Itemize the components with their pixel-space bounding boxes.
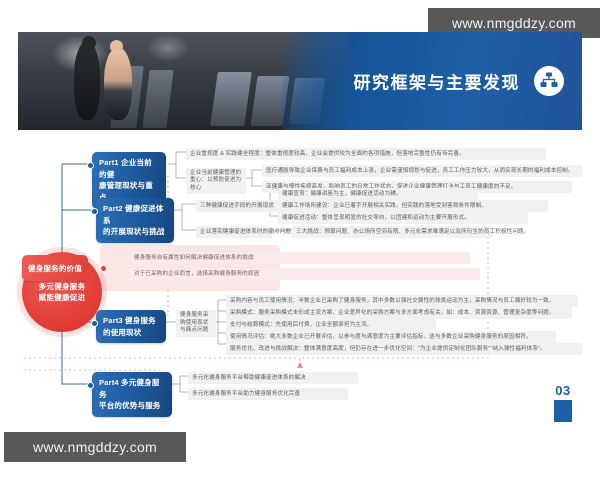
header-banner: 研究框架与主要发现: [18, 32, 582, 130]
part3-child-row: 健身服务采购使用现状与痛点问题: [176, 310, 216, 337]
value-child-row: 健身服务自有属性如何解决健康促进体系的挑战: [130, 252, 470, 264]
runner-head: [110, 40, 123, 53]
part3-grandchild-row: 支付与结算模式：先使用后付费，企业全额承担为主流。: [226, 319, 436, 331]
part-node-4[interactable]: Part4 多元健身服务 平台的优势与服务: [92, 372, 172, 417]
part4-child-row: 多元化健身服务平台助力健身服务优化完善: [188, 388, 348, 400]
value-child-row: 对于已采购的企业而言，选择采购健身服务的原因: [130, 268, 480, 280]
part-node-dot: [91, 208, 98, 215]
runner-figure: [104, 48, 132, 120]
part-node-dot: [87, 162, 94, 169]
part-node-3[interactable]: Part3 健身服务 的使用现状: [96, 310, 166, 343]
page-number: 03: [550, 383, 576, 422]
center-node-line2: 赋能健康促进: [39, 292, 86, 303]
part1-child-row: 企业重视度 & 实践健全程度：整体重视度较高，企业会提供较为全面的各项措施，但落…: [186, 148, 546, 160]
treadmill-decor: [210, 72, 252, 126]
part-title-line1: Part2 健康促进体系: [103, 203, 167, 226]
slide-page: www.nmgddzy.com 研究框架与主要发现: [0, 0, 600, 480]
runner-figure: [74, 42, 100, 120]
part2-grandchild-row: 健康工作场所建设：企业已着手开展相关实践，但实践的落地受到客观条件限制。: [278, 200, 548, 212]
part-title-line2: 平台的优势与服务: [99, 400, 165, 412]
part4-child-row: 多元化健身服务平台帮助健康促进体系的解决: [188, 372, 358, 384]
part2-grandchild-row: 健康宣育：健康讲座为主，健康促进活动为辅。: [278, 188, 478, 200]
part-title-line2: 的开展现状与挑战: [103, 226, 167, 238]
part-title-line1: Part3 健身服务: [103, 315, 159, 327]
center-node-line1: 多元健身服务: [39, 281, 86, 292]
part-node-dot: [91, 320, 98, 327]
treadmill-decor: [142, 70, 173, 128]
part-title-line2: 的使用现状: [103, 327, 159, 339]
part3-grandchild-row: 采购内容与员工使用情况：半数企业已采购了健身服务，其中多数以强社交属性的球类运动…: [226, 295, 578, 307]
part3-grandchild-row: 采购模式：服务采购模式未形成主流方案，企业差异化的采购方案与多方面考虑有关，如：…: [226, 307, 572, 319]
mindmap: 多元健身服务 赋能健康促进 健身服务的价值 健身服务自有属性如何解决健康促进体系…: [0, 140, 600, 420]
part3-grandchild-row: 服务优化、改进与挑战解决：整体满意度高度，但仍存在进一步优化空间："为企业提供定…: [226, 343, 582, 355]
part1-child-row: 企业当前健康管理的重心：以预防促进为核心: [186, 168, 246, 194]
part-title-line1: Part1 企业当前的健: [99, 157, 159, 180]
part2-grandchild-row: 三大挑战：预算问题、办公场所空间有限、多元化需求难满足以及所衍生的员工积极性问题…: [292, 226, 492, 238]
runner-head: [82, 36, 96, 50]
value-node-dot: [100, 265, 107, 272]
part2-grandchild-row: 健康促进活动：整体呈现明显的社交导向，以团建和运动为主要开展形式。: [278, 212, 528, 224]
part2-child-row: 企业落实健康促进体系时的痛点问题: [196, 226, 272, 238]
page-number-bar: [554, 400, 572, 422]
value-node[interactable]: 健身服务的价值: [22, 255, 88, 281]
org-chart-icon: [534, 66, 564, 96]
page-number-value: 03: [550, 383, 576, 398]
part-node-dot: [87, 382, 94, 389]
part-title-line1: Part4 多元健身服务: [99, 377, 165, 400]
watermark-bottom: www.nmgddzy.com: [4, 432, 186, 462]
part3-grandchild-row: 使用情况评估：绝大多数企业已开展评估，以参与度与满意度为主要评估指标，这与多数企…: [226, 331, 556, 343]
part1-grandchild-row: 医疗通胀导致企业保费与员工福利成本上涨，企业需谨慎规划与促进，员工工作压力较大，…: [262, 165, 582, 177]
part-node-2[interactable]: Part2 健康促进体系 的开展现状与挑战: [96, 198, 174, 243]
banner-title: 研究框架与主要发现: [354, 69, 521, 94]
